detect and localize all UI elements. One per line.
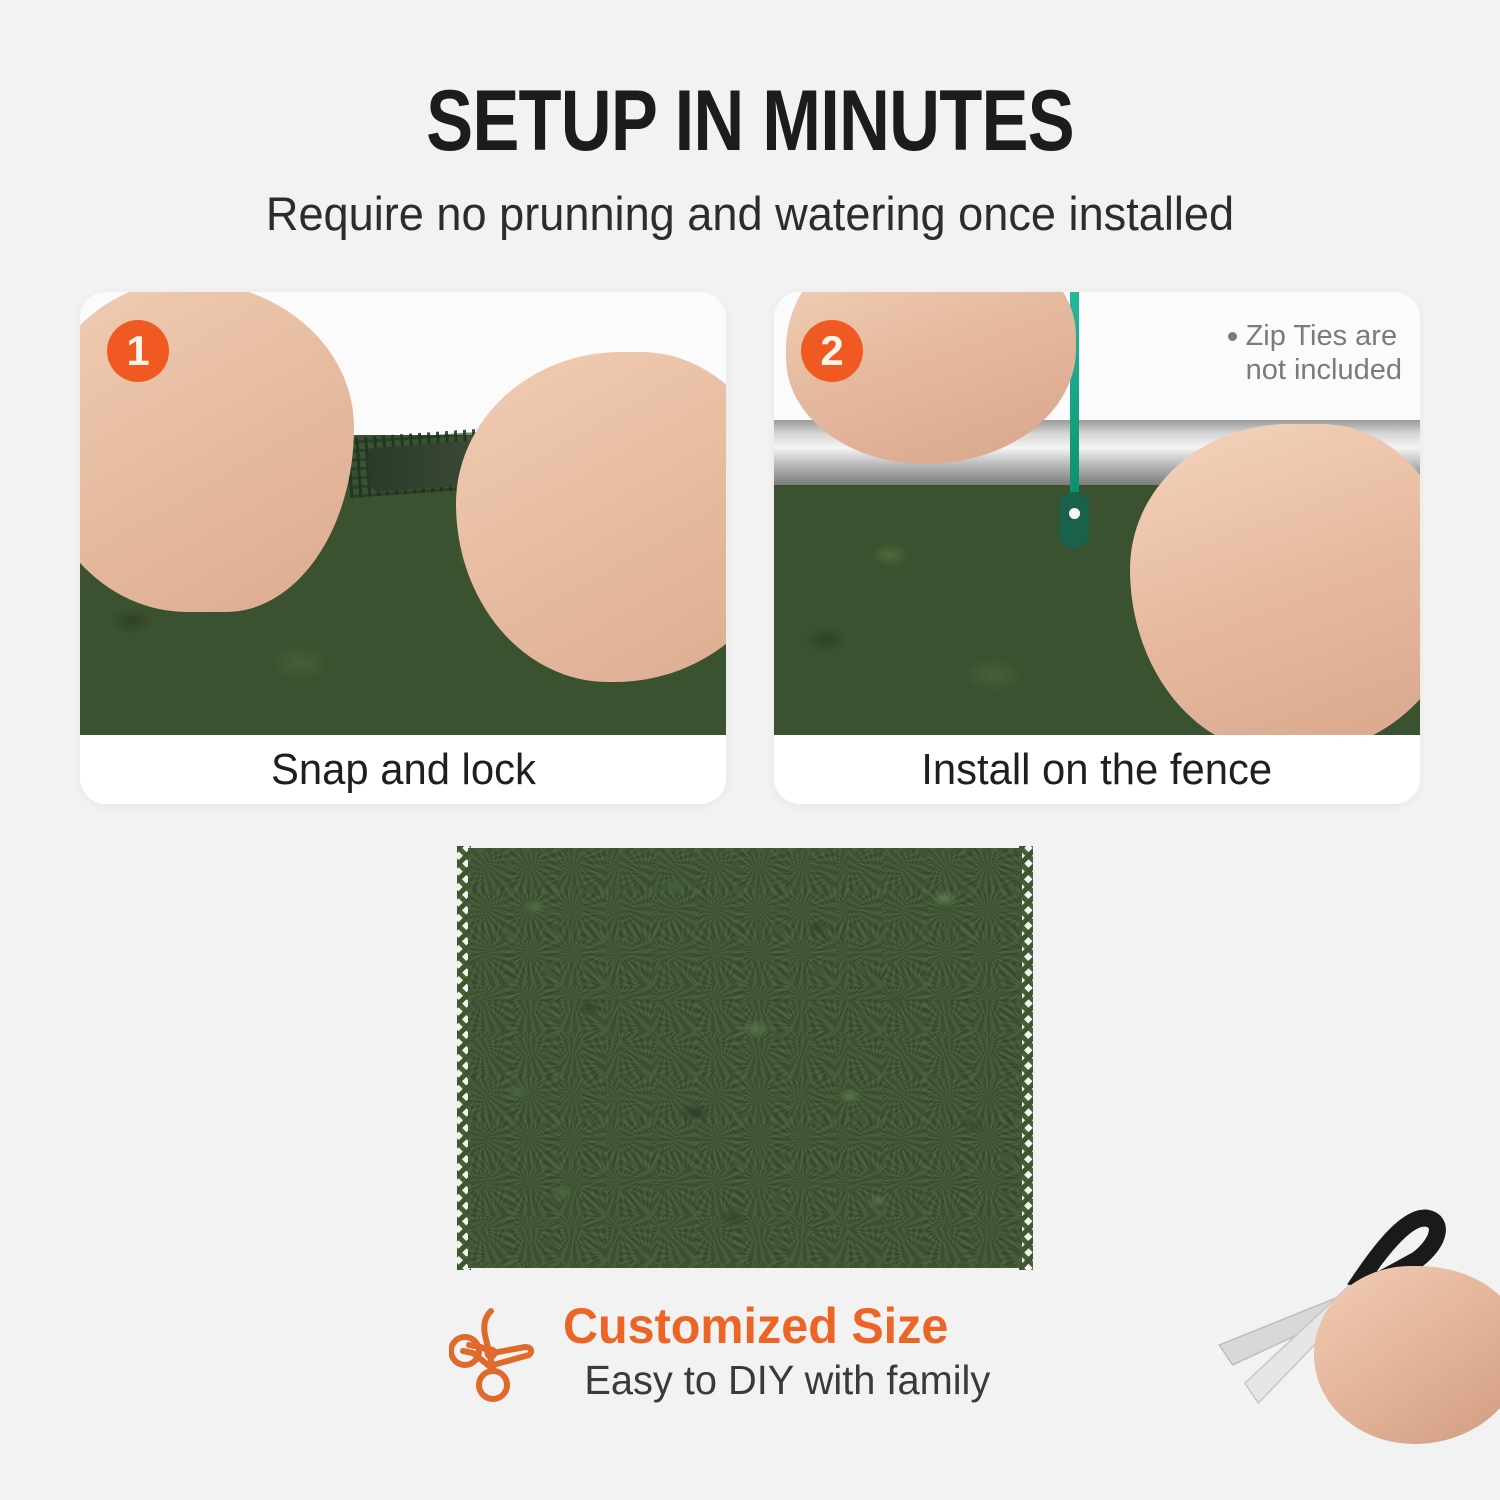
zip-ties-note: Zip Ties are not included [1228, 319, 1402, 387]
step-caption-2-text: Install on the fence [922, 748, 1273, 792]
page-subtitle: Require no prunning and watering once in… [30, 164, 1470, 237]
zip-tie-head-graphic [1059, 492, 1089, 548]
footer-title: Customized Size [563, 1301, 990, 1352]
right-hand-graphic [1130, 424, 1420, 735]
scissors-icon [449, 1295, 541, 1410]
step-caption-1: Snap and lock [80, 735, 726, 804]
step-cards: 1 Snap and lock 2 Zip Ties are not inclu… [80, 292, 1420, 804]
header: SETUP IN MINUTES Require no prunning and… [0, 0, 1500, 237]
step-badge-2: 2 [801, 320, 863, 382]
step-photo-1 [80, 292, 726, 735]
hedge-mat-product-image [468, 848, 1022, 1268]
step-badge-1: 1 [107, 320, 169, 382]
footer-subtitle: Easy to DIY with family [563, 1352, 990, 1404]
step-caption-2: Install on the fence [774, 735, 1420, 804]
step-caption-1-text: Snap and lock [271, 748, 536, 792]
step-card-2: 2 Zip Ties are not included Install on t… [774, 292, 1420, 804]
page-title: SETUP IN MINUTES [135, 0, 1365, 164]
footer: Customized Size Easy to DIY with family [0, 1295, 1500, 1410]
step-card-1: 1 Snap and lock [80, 292, 726, 804]
